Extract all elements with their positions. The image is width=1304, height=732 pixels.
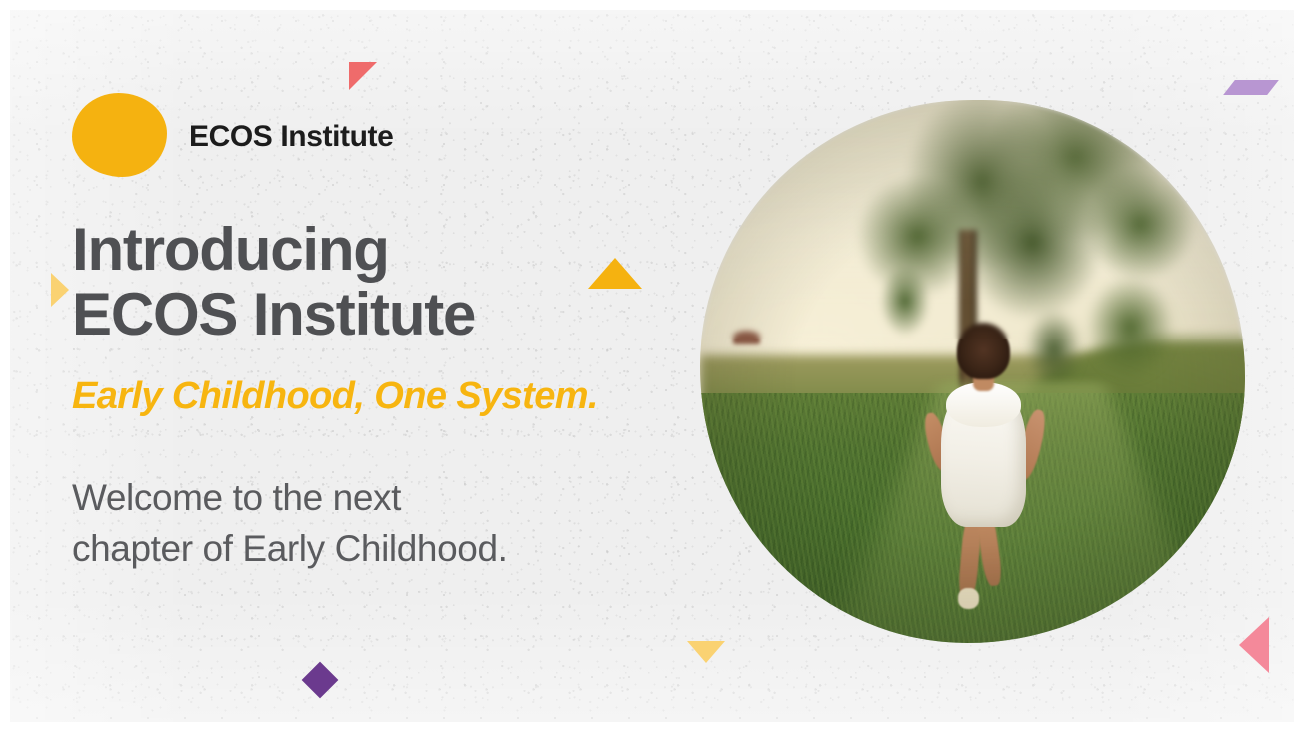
presentation-slide: ECOS Institute Introducing ECOS Institut… (0, 0, 1304, 732)
triangle-coral-top-icon (349, 62, 377, 90)
headline-block: Introducing ECOS Institute Early Childho… (72, 218, 692, 417)
hero-photo-image (700, 100, 1245, 643)
photo-color-grade (700, 100, 1245, 643)
hero-photo-circle (700, 100, 1245, 643)
slide-tagline: Early Childhood, One System. (72, 376, 692, 418)
slide-subtext: Welcome to the next chapter of Early Chi… (72, 472, 672, 574)
triangle-pale-yellow-down-icon (687, 641, 725, 663)
triangle-pink-left-icon (1239, 617, 1269, 673)
brand-lockup: ECOS Institute (72, 93, 393, 177)
brand-wordmark: ECOS Institute (189, 118, 393, 152)
triangle-gold-right-icon (51, 273, 69, 307)
circle-logo-icon (72, 93, 167, 177)
slide-canvas: ECOS Institute Introducing ECOS Institut… (10, 10, 1294, 722)
triangle-amber-up-icon (588, 258, 642, 289)
